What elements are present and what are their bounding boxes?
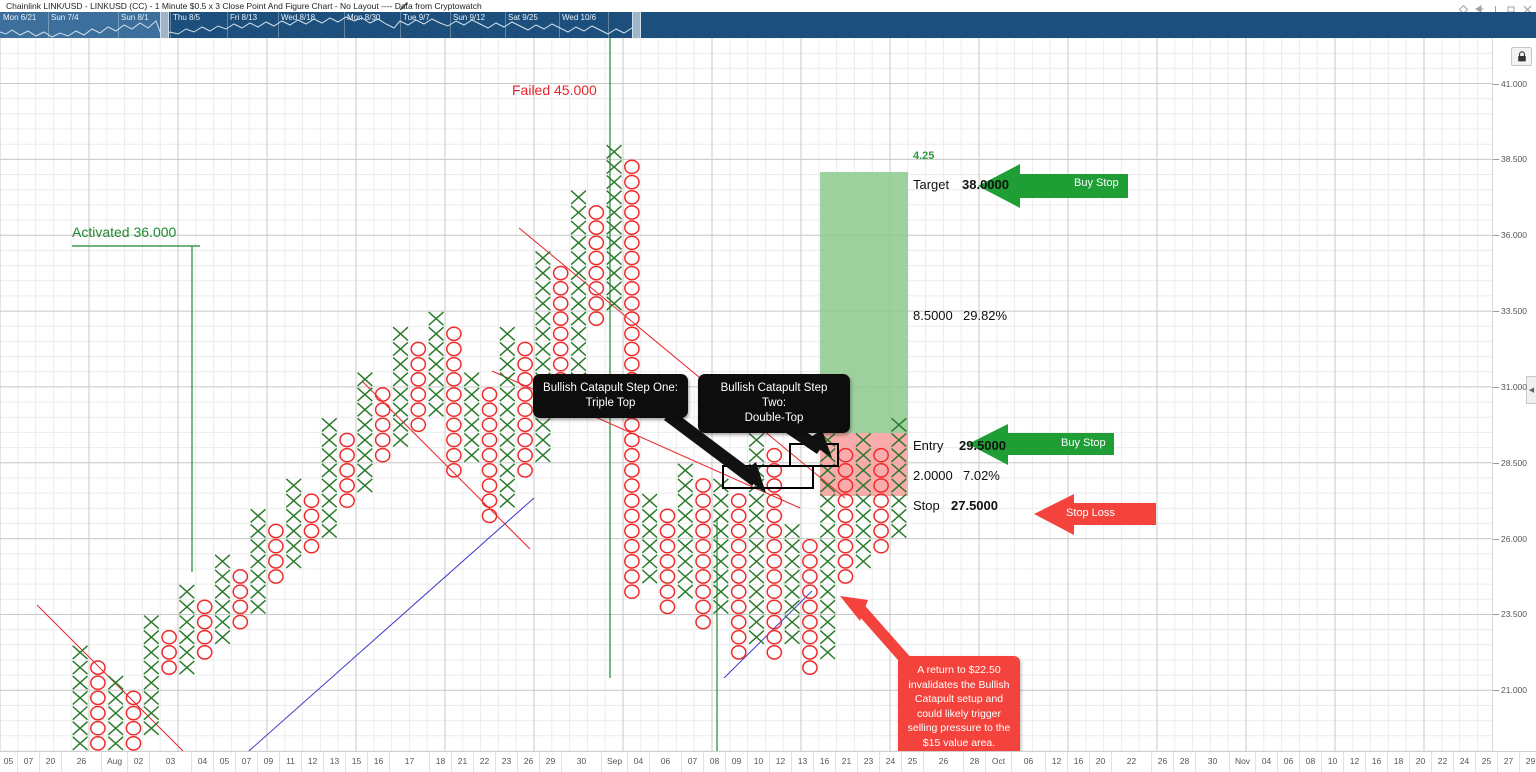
navigator-label: Sun 7/4 [48, 13, 79, 23]
date-axis-cell: 29 [540, 752, 562, 772]
date-axis-label: 06 [1284, 756, 1293, 766]
callout-step-one-line2: Triple Top [543, 396, 678, 411]
price-tick [1493, 387, 1499, 388]
date-axis-label: 29 [1526, 756, 1535, 766]
stop-loss-label: Stop Loss [1066, 507, 1115, 519]
date-axis-cell: 08 [704, 752, 726, 772]
date-axis-label: 17 [405, 756, 414, 766]
date-axis-label: 24 [886, 756, 895, 766]
date-axis-cell: 22 [474, 752, 496, 772]
date-axis-label: 13 [798, 756, 807, 766]
date-axis-label: 13 [330, 756, 339, 766]
date-axis-cell: 28 [1174, 752, 1196, 772]
pnf-x-column [429, 312, 444, 416]
date-axis-label: 27 [1504, 756, 1513, 766]
date-axis-label: Nov [1235, 756, 1250, 766]
price-axis-label: 21.000 [1501, 686, 1527, 695]
date-axis-cell: 04 [192, 752, 214, 772]
date-axis-cell: 10 [1322, 752, 1344, 772]
price-tick [1493, 159, 1499, 160]
date-axis-cell: 13 [792, 752, 814, 772]
price-axis[interactable]: ◀ 41.00038.50036.00033.50031.00028.50026… [1492, 38, 1536, 751]
date-axis-cell: 25 [902, 752, 924, 772]
date-axis-label: 07 [24, 756, 33, 766]
date-axis-label: 12 [776, 756, 785, 766]
pnf-o-column [660, 509, 674, 613]
chart-application: Chainlink LINK/USD - LINKUSD (CC) - 1 Mi… [0, 0, 1536, 771]
date-axis-label: 09 [264, 756, 273, 766]
title-bar: Chainlink LINK/USD - LINKUSD (CC) - 1 Mi… [0, 0, 1536, 12]
date-axis-cell: 05 [0, 752, 18, 772]
date-axis-cell: 05 [214, 752, 236, 772]
pnf-x-column [73, 646, 88, 750]
date-axis-label: 06 [661, 756, 670, 766]
date-axis-cell: 24 [1454, 752, 1476, 772]
date-axis-label: 22 [480, 756, 489, 766]
date-axis-cell: 30 [1196, 752, 1230, 772]
date-axis-cell: 23 [858, 752, 880, 772]
chart-plot-area[interactable]: Failed 45.000 Activated 36.000 4.25 Targ… [0, 38, 1492, 751]
date-axis-cell: 12 [770, 752, 792, 772]
callout-step-one: Bullish Catapult Step One: Triple Top [533, 374, 688, 418]
date-axis-cell: 15 [346, 752, 368, 772]
price-tick [1493, 463, 1499, 464]
date-axis-label: 03 [166, 756, 175, 766]
date-axis-cell: 06 [650, 752, 682, 772]
date-axis-label: 08 [710, 756, 719, 766]
date-axis-cell: 02 [128, 752, 150, 772]
price-axis-label: 28.500 [1501, 459, 1527, 468]
date-axis-label: 25 [1482, 756, 1491, 766]
activated-level-label: Activated 36.000 [72, 224, 176, 240]
date-axis-label: 16 [1372, 756, 1381, 766]
date-axis-label: Oct [992, 756, 1005, 766]
price-axis-label: 33.500 [1501, 307, 1527, 316]
date-axis-cell: 22 [1432, 752, 1454, 772]
reward-percent: 29.82% [963, 308, 1007, 323]
date-axis-cell: 12 [302, 752, 324, 772]
date-axis-cell: 11 [280, 752, 302, 772]
date-axis-label: 22 [1438, 756, 1447, 766]
date-axis-label: 16 [820, 756, 829, 766]
pnf-o-column [803, 540, 817, 675]
date-axis-label: 04 [634, 756, 643, 766]
price-tick [1493, 539, 1499, 540]
pnf-o-column [732, 494, 746, 659]
date-axis-label: 20 [1096, 756, 1105, 766]
date-axis-label: Aug [107, 756, 122, 766]
price-tick [1493, 311, 1499, 312]
date-axis-cell: 26 [924, 752, 964, 772]
stop-label: Stop [913, 498, 940, 513]
price-axis-label: 36.000 [1501, 231, 1527, 240]
navigator-label: Sun 8/1 [118, 13, 149, 23]
navigator-right-handle[interactable] [632, 12, 641, 38]
bullish-trendlines [205, 498, 812, 751]
navigator-label: Sun 9/12 [450, 13, 485, 23]
pnf-o-column [162, 631, 176, 675]
buy-stop-entry-label: Buy Stop [1061, 437, 1106, 449]
bearish-trendlines [37, 228, 845, 751]
date-axis-cell: 26 [62, 752, 102, 772]
date-axis-cell: 24 [880, 752, 902, 772]
date-axis-cell: Nov [1230, 752, 1256, 772]
date-axis-cell: 07 [236, 752, 258, 772]
price-tick [1493, 614, 1499, 615]
date-axis-label: Sep [607, 756, 622, 766]
navigator-label: Fri 8/13 [227, 13, 257, 23]
navigator-label: Wed 10/6 [559, 13, 596, 23]
date-axis-cell: 20 [1090, 752, 1112, 772]
date-axis-label: 26 [1158, 756, 1167, 766]
date-axis-label: 25 [908, 756, 917, 766]
date-axis-cell: 12 [1046, 752, 1068, 772]
date-axis-cell: 06 [1278, 752, 1300, 772]
date-axis-cell: 16 [1366, 752, 1388, 772]
date-axis-label: 23 [502, 756, 511, 766]
date-axis-cell: 07 [18, 752, 40, 772]
date-axis-cell: 13 [324, 752, 346, 772]
date-axis-label: 22 [1127, 756, 1136, 766]
date-axis[interactable]: 05072026Aug02030405070911121315161718212… [0, 751, 1536, 772]
date-axis-label: 21 [458, 756, 467, 766]
date-axis-cell: 10 [748, 752, 770, 772]
price-axis-label: 23.500 [1501, 610, 1527, 619]
price-axis-handle[interactable]: ◀ [1526, 376, 1536, 404]
price-tick [1493, 235, 1499, 236]
date-axis-label: 20 [46, 756, 55, 766]
date-axis-label: 30 [577, 756, 586, 766]
time-navigator[interactable]: Mon 6/21 Sun 7/4 Sun 8/1 Thu 8/5 Fri 8/1… [0, 12, 1536, 38]
entry-price: 29.5000 [959, 438, 1006, 453]
date-axis-label: 26 [939, 756, 948, 766]
entry-label: Entry [913, 438, 943, 453]
date-axis-cell: 17 [390, 752, 430, 772]
date-axis-label: 05 [220, 756, 229, 766]
price-tick [1493, 690, 1499, 691]
navigator-label: Tue 9/7 [400, 13, 430, 23]
pnf-x-column [251, 509, 266, 613]
date-axis-cell: Oct [986, 752, 1012, 772]
lock-icon[interactable] [1511, 47, 1532, 66]
date-axis-cell: 25 [1476, 752, 1498, 772]
stop-price: 27.5000 [951, 498, 998, 513]
navigator-label: Sat 9/25 [505, 13, 538, 23]
date-axis-label: 26 [77, 756, 86, 766]
risk-percent: 7.02% [963, 468, 1000, 483]
navigator-label: Thu 8/5 [170, 13, 200, 23]
date-axis-label: 05 [4, 756, 13, 766]
date-axis-cell: 27 [1498, 752, 1520, 772]
date-axis-label: 18 [1394, 756, 1403, 766]
date-axis-cell: 04 [628, 752, 650, 772]
date-axis-cell: 21 [452, 752, 474, 772]
pnf-o-column [482, 388, 496, 523]
date-axis-cell: 03 [150, 752, 192, 772]
date-axis-cell: 08 [1300, 752, 1322, 772]
navigator-label: Mon 8/30 [344, 13, 380, 23]
date-axis-cell: 04 [1256, 752, 1278, 772]
window-title: Chainlink LINK/USD - LINKUSD (CC) - 1 Mi… [6, 0, 482, 12]
price-axis-label: 26.000 [1501, 535, 1527, 544]
date-axis-cell: 20 [1410, 752, 1432, 772]
date-axis-label: 04 [198, 756, 207, 766]
date-axis-label: 23 [864, 756, 873, 766]
date-axis-label: 16 [374, 756, 383, 766]
date-axis-cell: Sep [602, 752, 628, 772]
date-axis-cell: 20 [40, 752, 62, 772]
date-axis-label: 28 [1180, 756, 1189, 766]
date-axis-label: 28 [970, 756, 979, 766]
date-axis-label: 10 [754, 756, 763, 766]
date-axis-cell: 09 [258, 752, 280, 772]
reward-value: 8.5000 [913, 308, 953, 323]
reward-risk-ratio-label: 4.25 [913, 150, 934, 162]
date-axis-cell: 16 [814, 752, 836, 772]
date-axis-label: 26 [524, 756, 533, 766]
failed-level-label: Failed 45.000 [512, 82, 597, 98]
pnf-o-column [518, 342, 532, 477]
date-axis-label: 24 [1460, 756, 1469, 766]
date-axis-label: 09 [732, 756, 741, 766]
date-axis-label: 06 [1024, 756, 1033, 766]
date-axis-label: 16 [1074, 756, 1083, 766]
date-axis-label: 15 [352, 756, 361, 766]
pnf-x-column [678, 464, 693, 599]
date-axis-cell: 26 [1152, 752, 1174, 772]
date-axis-label: 12 [1052, 756, 1061, 766]
date-axis-label: 18 [436, 756, 445, 766]
target-label: Target [913, 177, 949, 192]
date-axis-label: 07 [688, 756, 697, 766]
navigator-label: Mon 6/21 [0, 13, 36, 23]
pencil-icon[interactable] [399, 1, 410, 11]
pnf-o-column [376, 388, 390, 462]
navigator-left-handle[interactable] [160, 12, 169, 38]
callout-step-one-line1: Bullish Catapult Step One: [543, 381, 678, 396]
callout-step-two-line2: Double-Top [708, 411, 840, 426]
buy-stop-target-label: Buy Stop [1074, 177, 1119, 189]
navigator-label: Wed 8/18 [278, 13, 315, 23]
date-axis-cell: 06 [1012, 752, 1046, 772]
date-axis-label: 21 [842, 756, 851, 766]
date-axis-label: 29 [546, 756, 555, 766]
date-axis-cell: 21 [836, 752, 858, 772]
date-axis-cell: 09 [726, 752, 748, 772]
date-axis-cell: 22 [1112, 752, 1152, 772]
date-axis-cell: 12 [1344, 752, 1366, 772]
date-axis-cell: Aug [102, 752, 128, 772]
risk-value: 2.0000 [913, 468, 953, 483]
target-price: 38.0000 [962, 177, 1009, 192]
date-axis-label: 12 [308, 756, 317, 766]
date-axis-cell: 16 [1068, 752, 1090, 772]
date-axis-label: 10 [1328, 756, 1337, 766]
price-axis-label: 31.000 [1501, 383, 1527, 392]
date-axis-label: 12 [1350, 756, 1359, 766]
invalidation-warning-callout: A return to $22.50 invalidates the Bulli… [898, 656, 1020, 757]
pnf-x-column [607, 145, 622, 310]
date-axis-cell: 23 [496, 752, 518, 772]
date-axis-label: 02 [134, 756, 143, 766]
date-axis-label: 08 [1306, 756, 1315, 766]
price-axis-label: 41.000 [1501, 80, 1527, 89]
date-axis-cell: 28 [964, 752, 986, 772]
price-axis-label: 38.500 [1501, 155, 1527, 164]
date-axis-cell: 16 [368, 752, 390, 772]
callout-step-two: Bullish Catapult Step Two: Double-Top [698, 374, 850, 433]
date-axis-cell: 26 [518, 752, 540, 772]
pnf-x-column [714, 479, 729, 614]
date-axis-cell: 07 [682, 752, 704, 772]
date-axis-cell: 30 [562, 752, 602, 772]
navigator-sparkline [0, 12, 640, 38]
date-axis-label: 07 [242, 756, 251, 766]
callout-step-two-line1: Bullish Catapult Step Two: [708, 381, 840, 411]
date-axis-cell: 18 [430, 752, 452, 772]
price-tick [1493, 84, 1499, 85]
date-axis-label: 30 [1208, 756, 1217, 766]
date-axis-label: 04 [1262, 756, 1271, 766]
date-axis-label: 20 [1416, 756, 1425, 766]
date-axis-cell: 18 [1388, 752, 1410, 772]
date-axis-cell: 29 [1520, 752, 1536, 772]
pnf-o-column [340, 433, 354, 507]
pnf-x-column [108, 676, 123, 750]
date-axis-label: 11 [286, 756, 295, 766]
